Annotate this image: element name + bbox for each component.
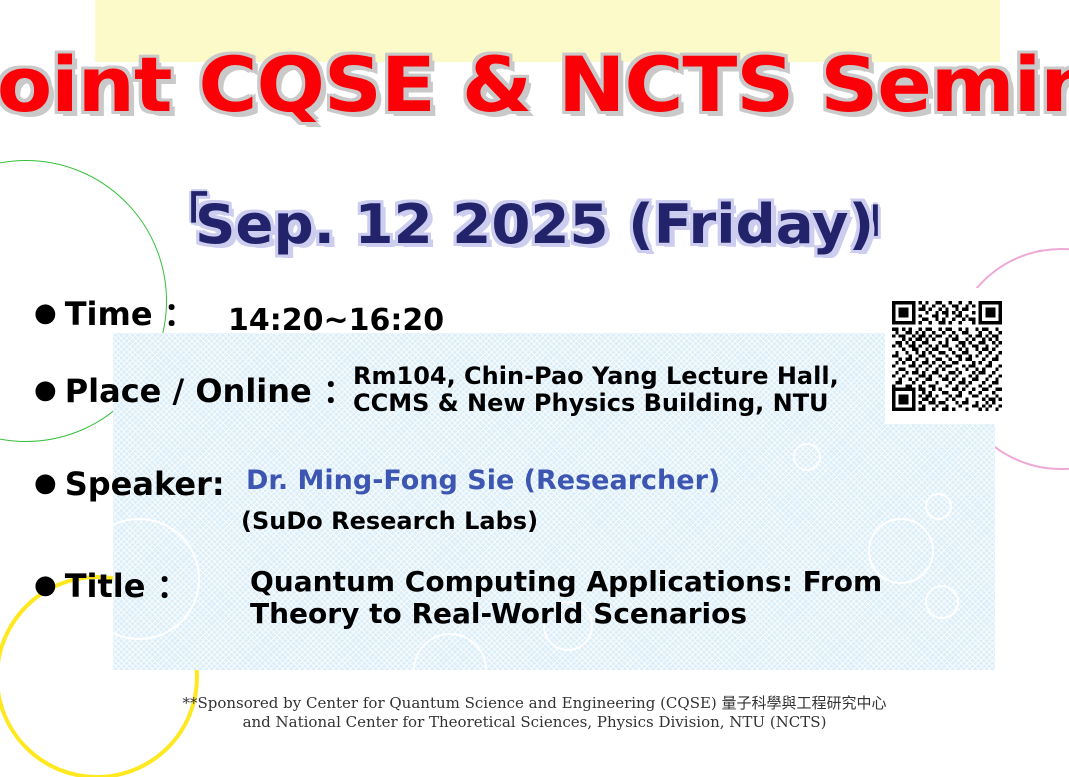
place-label: ●Place / Online ： bbox=[34, 375, 355, 407]
poster-date-line: 「Sep. 12 2025 (Friday)」 bbox=[0, 192, 1069, 252]
qr-code-container[interactable] bbox=[885, 288, 1009, 424]
place-label-text: Place / Online ： bbox=[65, 372, 355, 410]
place-value-line1: Rm104, Chin-Pao Yang Lecture Hall, bbox=[353, 363, 839, 390]
title-label: ●Title ： bbox=[34, 570, 189, 602]
speaker-name: Dr. Ming-Fong Sie (Researcher) bbox=[246, 466, 720, 496]
title-label-text: Title ： bbox=[65, 567, 189, 605]
talk-title: Quantum Computing Applications: From The… bbox=[250, 566, 882, 630]
time-label-text: Time ： bbox=[65, 295, 196, 333]
sponsor-line-1: **Sponsored by Center for Quantum Scienc… bbox=[0, 694, 1069, 713]
bullet-icon: ● bbox=[34, 468, 57, 498]
talk-title-line1: Quantum Computing Applications: From bbox=[250, 566, 882, 598]
bubble-decoration bbox=[413, 633, 487, 670]
time-label: ●Time ： bbox=[34, 298, 196, 330]
bubble-decoration bbox=[925, 493, 952, 520]
date-text: Sep. 12 2025 (Friday) bbox=[195, 198, 874, 252]
speaker-label-text: Speaker: bbox=[65, 465, 225, 503]
place-value: Rm104, Chin-Pao Yang Lecture Hall, CCMS … bbox=[353, 363, 839, 417]
talk-title-line2: Theory to Real-World Scenarios bbox=[250, 598, 882, 630]
place-value-line2: CCMS & New Physics Building, NTU bbox=[353, 390, 839, 417]
sponsor-line-2: and National Center for Theoretical Scie… bbox=[0, 713, 1069, 732]
speaker-affiliation: (SuDo Research Labs) bbox=[241, 508, 538, 535]
seminar-poster: Joint CQSE & NCTS Seminar 「Sep. 12 2025 … bbox=[0, 0, 1069, 777]
sponsor-footer: **Sponsored by Center for Quantum Scienc… bbox=[0, 694, 1069, 732]
qr-code-icon[interactable] bbox=[892, 301, 1002, 411]
poster-headline: Joint CQSE & NCTS Seminar bbox=[0, 47, 1069, 123]
bubble-decoration bbox=[793, 443, 821, 471]
time-value: 14:20~16:20 bbox=[228, 304, 444, 338]
bullet-icon: ● bbox=[34, 375, 57, 405]
bullet-icon: ● bbox=[34, 570, 57, 600]
bubble-decoration bbox=[925, 585, 959, 619]
bullet-icon: ● bbox=[34, 298, 57, 328]
speaker-label: ●Speaker: bbox=[34, 468, 225, 500]
